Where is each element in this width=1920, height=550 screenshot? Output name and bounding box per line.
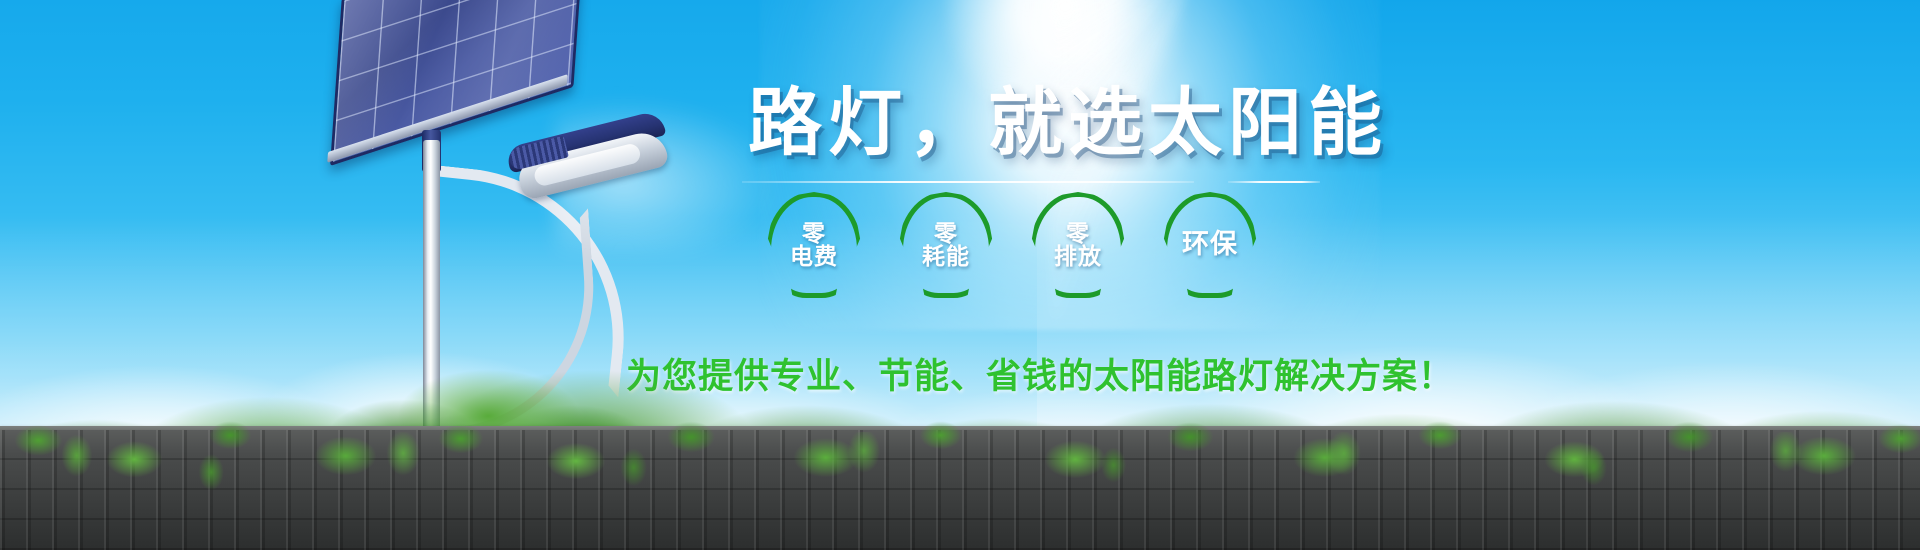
badge-zero-emission: 零 排放 [1030,192,1126,298]
badge-word: 耗能 [922,245,970,268]
badge-zero-electricity-fee: 零 电费 [766,192,862,298]
headline-underline-left [742,181,1194,183]
badge-eco-friendly: 环保 [1162,192,1258,298]
feature-badge-list: 零 电费 零 耗能 零 排放 [766,192,1258,298]
badge-label: 零 排放 [1054,222,1102,269]
badge-prefix: 零 [1054,222,1102,245]
ground-scene [0,400,1920,550]
badge-label: 零 电费 [790,222,838,269]
solar-street-light-banner: 路灯，就选太阳能 零 电费 零 耗能 零 [0,0,1920,550]
badge-label: 环保 [1182,230,1238,260]
page-title: 路灯，就选太阳能 [748,86,1388,160]
badge-word: 环保 [1182,230,1238,260]
badge-word: 排放 [1054,245,1102,268]
badge-word: 电费 [790,245,838,268]
badge-prefix: 零 [790,222,838,245]
badge-prefix: 零 [922,222,970,245]
hanging-vines [0,432,1920,550]
badge-label: 零 耗能 [922,222,970,269]
headline-underline-right [1228,181,1320,183]
badge-zero-energy-consumption: 零 耗能 [898,192,994,298]
